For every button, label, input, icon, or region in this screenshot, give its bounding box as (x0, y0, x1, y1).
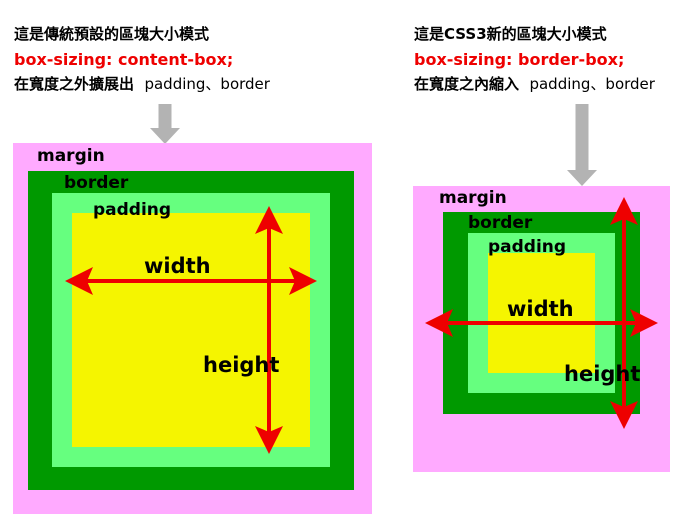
border-label: border (468, 215, 532, 232)
arrow-shaft (576, 104, 589, 172)
content-box-caption: 這是傳統預設的區塊大小模式 box-sizing: content-box; 在… (14, 22, 270, 97)
content-box-panel: 這是傳統預設的區塊大小模式 box-sizing: content-box; 在… (0, 0, 400, 514)
caption-code: box-sizing: content-box; (14, 47, 270, 72)
caption-title: 這是傳統預設的區塊大小模式 (14, 22, 270, 47)
caption-code: box-sizing: border-box; (414, 47, 655, 72)
arrow-head (567, 170, 597, 186)
caption-note: 在寬度之外擴展出 padding、border (14, 72, 270, 97)
border-box-panel: 這是CSS3新的區塊大小模式 box-sizing: border-box; 在… (400, 0, 700, 514)
border-label: border (64, 175, 128, 192)
caption-note-latin: padding、border (144, 75, 269, 93)
caption-note-latin: padding、border (529, 75, 654, 93)
border-box-diagram: margin border padding width height (413, 186, 670, 472)
height-label: height (564, 364, 640, 385)
arrow-shaft (159, 104, 172, 130)
caption-note-cjk: 在寬度之內縮入 (414, 75, 519, 93)
margin-label: margin (439, 190, 507, 207)
height-arrow (604, 197, 644, 429)
content-box-diagram: margin border padding width height (13, 143, 372, 514)
margin-label: margin (37, 148, 105, 165)
height-label: height (203, 355, 279, 376)
padding-label: padding (488, 239, 566, 256)
width-label: width (144, 256, 211, 277)
width-label: width (507, 299, 574, 320)
height-arrow (249, 206, 289, 454)
down-arrow-icon (140, 104, 190, 144)
border-box-caption: 這是CSS3新的區塊大小模式 box-sizing: border-box; 在… (414, 22, 655, 97)
caption-note: 在寬度之內縮入 padding、border (414, 72, 655, 97)
arrow-head (150, 128, 180, 144)
down-arrow-icon (557, 104, 607, 186)
padding-label: padding (93, 202, 171, 219)
caption-title: 這是CSS3新的區塊大小模式 (414, 22, 655, 47)
caption-note-cjk: 在寬度之外擴展出 (14, 75, 134, 93)
